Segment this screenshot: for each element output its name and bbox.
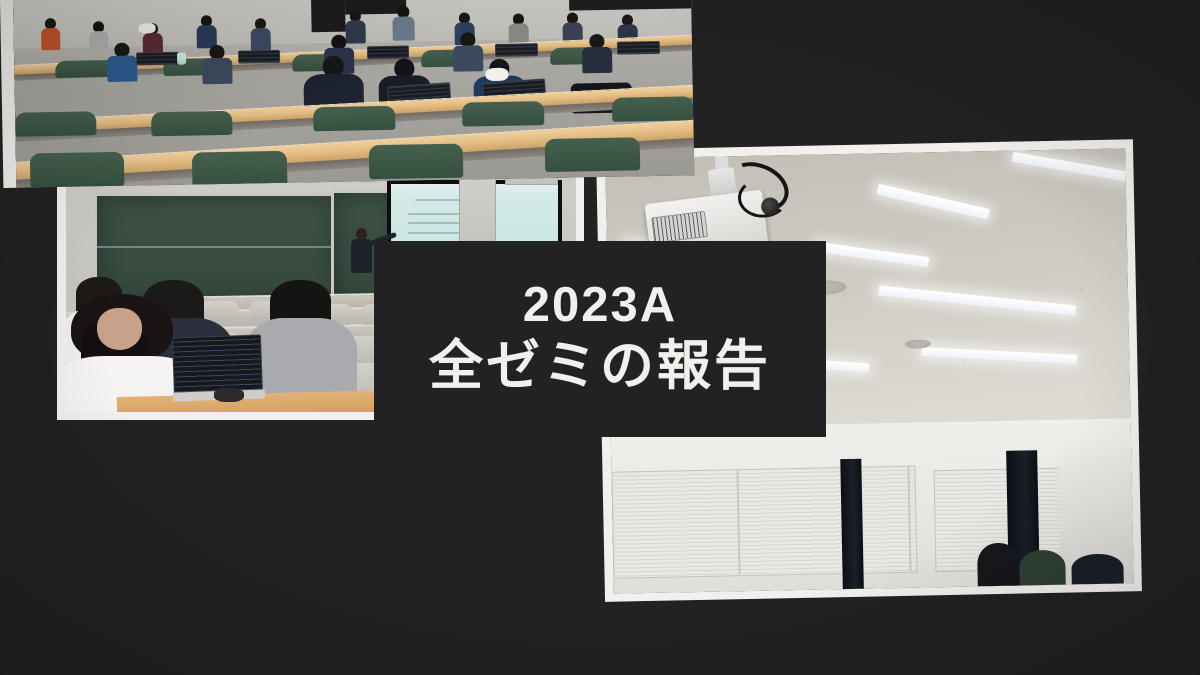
photo-students-laptops-image <box>13 0 694 188</box>
title-panel: 2023A 全ゼミの報告 <box>374 241 826 437</box>
photo-students-laptops <box>0 0 694 188</box>
title-line-1: 2023A <box>523 280 677 331</box>
slide-canvas: 2023A 全ゼミの報告 <box>0 0 1200 675</box>
title-line-2: 全ゼミの報告 <box>429 335 771 399</box>
